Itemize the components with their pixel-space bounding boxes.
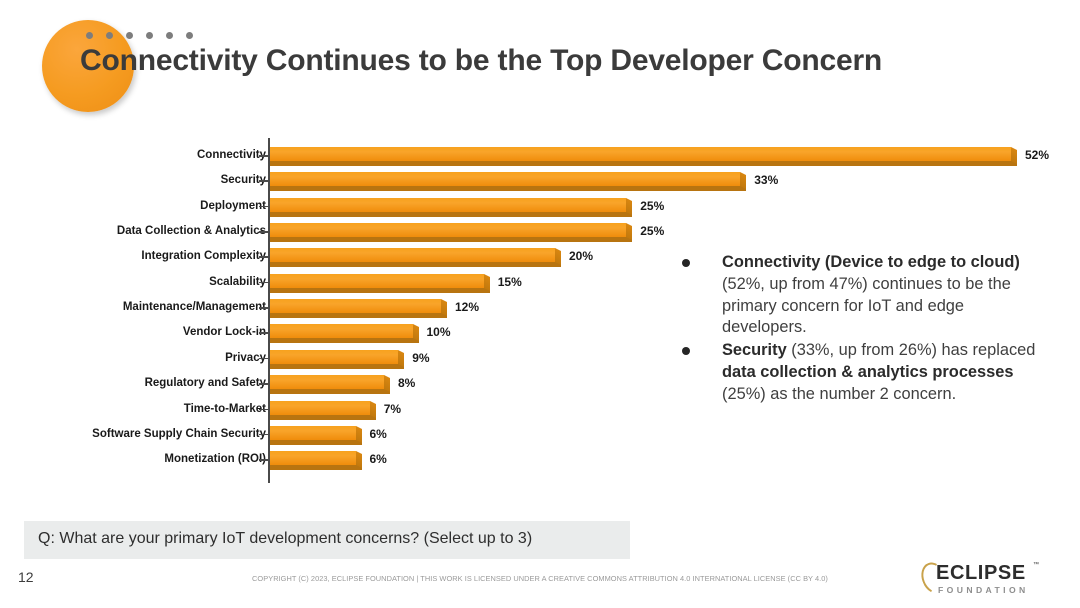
chart-category-label: Integration Complexity [141, 247, 266, 266]
chart-category-label: Monetization (ROI) [164, 450, 266, 469]
chart-bar-shadow [270, 161, 1017, 166]
survey-question-bar: Q: What are your primary IoT development… [24, 521, 630, 559]
chart-bar-face [270, 248, 555, 262]
chart-bar-side [441, 299, 447, 316]
chart-category-label: Scalability [209, 273, 266, 292]
chart-value-label: 12% [455, 298, 479, 317]
chart-value-label: 7% [384, 400, 401, 419]
chart-bar-shadow [270, 465, 362, 470]
chart-category-label: Software Supply Chain Security [92, 425, 266, 444]
chart-bar-row: Data Collection & Analytics25% [0, 222, 1080, 247]
chart-bar-shadow [270, 288, 490, 293]
chart-bar [270, 248, 561, 268]
bullet-dot-icon [682, 259, 690, 267]
chart-bar-shadow [270, 186, 746, 191]
chart-category-label: Connectivity [197, 146, 266, 165]
chart-bar-face [270, 147, 1011, 161]
chart-category-label: Time-to-Market [184, 400, 266, 419]
chart-bar-face [270, 350, 398, 364]
chart-bar [270, 223, 632, 243]
page-title: Connectivity Continues to be the Top Dev… [80, 44, 882, 78]
dot-row-decoration [86, 32, 193, 39]
chart-bar-row: Software Supply Chain Security6% [0, 425, 1080, 450]
chart-bar-face [270, 299, 441, 313]
chart-value-label: 33% [754, 171, 778, 190]
insight-bullet-list: Connectivity (Device to edge to cloud) (… [678, 252, 1048, 407]
slide: Connectivity Continues to be the Top Dev… [0, 0, 1080, 608]
chart-bar [270, 172, 746, 192]
chart-bar-row: Security33% [0, 171, 1080, 196]
header-dot-icon [126, 32, 133, 39]
insight-bullet-text: Security (33%, up from 26%) has replaced… [722, 341, 1035, 403]
chart-value-label: 10% [427, 323, 451, 342]
chart-bar-face [270, 375, 384, 389]
chart-value-label: 25% [640, 222, 664, 241]
chart-bar-face [270, 324, 413, 338]
chart-bar-side [1011, 147, 1017, 164]
chart-category-label: Deployment [200, 197, 266, 216]
header-dot-icon [106, 32, 113, 39]
chart-value-label: 6% [370, 425, 387, 444]
header-dot-icon [166, 32, 173, 39]
chart-bar-shadow [270, 338, 419, 343]
chart-bar-side [370, 401, 376, 418]
chart-bar [270, 401, 376, 421]
chart-bar [270, 147, 1017, 167]
chart-bar-side [740, 172, 746, 189]
chart-bar-shadow [270, 364, 404, 369]
chart-bar-side [356, 426, 362, 443]
chart-value-label: 20% [569, 247, 593, 266]
chart-bar-side [484, 274, 490, 291]
bullet-dot-icon [682, 347, 690, 355]
chart-category-label: Regulatory and Safety [145, 374, 266, 393]
chart-bar-side [555, 248, 561, 265]
chart-bar-shadow [270, 440, 362, 445]
chart-category-label: Vendor Lock-in [183, 323, 266, 342]
chart-bar-face [270, 223, 626, 237]
chart-bar-row: Monetization (ROI)6% [0, 450, 1080, 475]
chart-bar-row: Connectivity52% [0, 146, 1080, 171]
chart-bar [270, 299, 447, 319]
insight-bullet-text: Connectivity (Device to edge to cloud) (… [722, 253, 1020, 336]
chart-category-label: Maintenance/Management [123, 298, 266, 317]
chart-bar-shadow [270, 212, 632, 217]
chart-bar-shadow [270, 237, 632, 242]
logo-eclipse-wordmark: ECLIPSE [936, 562, 1026, 585]
chart-bar-face [270, 172, 740, 186]
chart-bar-shadow [270, 389, 390, 394]
insight-bullet-item: Connectivity (Device to edge to cloud) (… [678, 252, 1048, 339]
chart-bar-face [270, 401, 370, 415]
chart-bar [270, 451, 362, 471]
chart-bar-shadow [270, 415, 376, 420]
chart-bar-shadow [270, 262, 561, 267]
chart-bar-face [270, 198, 626, 212]
chart-bar [270, 375, 390, 395]
chart-value-label: 15% [498, 273, 522, 292]
chart-value-label: 25% [640, 197, 664, 216]
chart-bar [270, 324, 419, 344]
chart-bar [270, 274, 490, 294]
trademark-icon: ™ [1033, 562, 1039, 568]
chart-bar-side [626, 198, 632, 215]
insight-bullet-item: Security (33%, up from 26%) has replaced… [678, 340, 1048, 405]
eclipse-foundation-logo: ECLIPSE ™ FOUNDATION [922, 560, 1062, 600]
copyright-notice: COPYRIGHT (C) 2023, ECLIPSE FOUNDATION |… [0, 574, 1080, 583]
logo-foundation-wordmark: FOUNDATION [938, 585, 1029, 595]
chart-bar-face [270, 274, 484, 288]
slide-header: Connectivity Continues to be the Top Dev… [0, 0, 1080, 120]
chart-value-label: 8% [398, 374, 415, 393]
chart-bar-shadow [270, 313, 447, 318]
survey-question-text: Q: What are your primary IoT development… [38, 530, 532, 548]
chart-bar-side [356, 451, 362, 468]
chart-value-label: 52% [1025, 146, 1049, 165]
chart-bar-side [398, 350, 404, 367]
chart-value-label: 9% [412, 349, 429, 368]
chart-bar-side [384, 375, 390, 392]
chart-bar-face [270, 426, 356, 440]
chart-bar [270, 426, 362, 446]
chart-category-label: Data Collection & Analytics [117, 222, 266, 241]
chart-bar-row: Deployment25% [0, 197, 1080, 222]
header-dot-icon [186, 32, 193, 39]
header-dot-icon [86, 32, 93, 39]
chart-bar-face [270, 451, 356, 465]
header-dot-icon [146, 32, 153, 39]
chart-value-label: 6% [370, 450, 387, 469]
chart-bar [270, 350, 404, 370]
chart-bar-side [626, 223, 632, 240]
chart-bar [270, 198, 632, 218]
